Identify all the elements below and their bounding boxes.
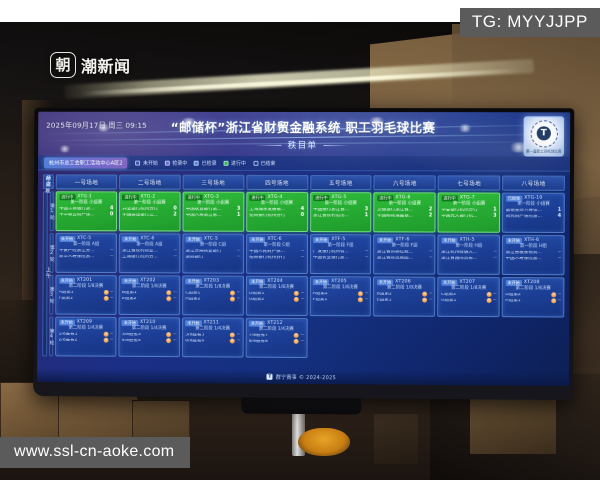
- match-card[interactable]: 进行中XTG-1第一阶段 小组赛中国工商银行浙...4中华联合财产保...0: [56, 191, 117, 231]
- overflow-dots[interactable]: ···: [493, 256, 496, 261]
- match-code: XTF-6: [395, 238, 409, 243]
- overflow-dots[interactable]: ···: [173, 297, 176, 302]
- match-team-row: 兴业银行杭州分行0: [122, 207, 176, 212]
- legend-item-1[interactable]: 检录中: [165, 159, 187, 166]
- subtitle-row: 秩目单: [38, 139, 570, 152]
- match-status-badge: 未开始: [122, 278, 138, 284]
- overflow-dots[interactable]: ···: [429, 298, 432, 303]
- venue-chip[interactable]: 杭州市总工会职工活动中心A区2: [44, 157, 128, 168]
- match-card-header: 未开始XT205: [313, 279, 368, 285]
- legend-label: 检录中: [172, 159, 187, 166]
- match-card-header: 进行中XTG-3: [186, 195, 241, 201]
- match-round-label: 第一阶段 小组赛: [186, 201, 241, 206]
- match-code: XTC-5: [77, 236, 91, 241]
- match-round-label: 第二阶段 1/8决赛: [441, 286, 496, 291]
- team-name: 富德生命人寿保...: [506, 208, 554, 213]
- match-card[interactable]: 进行中XTG-2第一阶段 小组赛兴业银行杭州分行0中国建设银行江...2: [119, 191, 181, 231]
- match-code: XT209: [77, 320, 93, 325]
- match-team-row: A组第2···: [313, 291, 368, 296]
- team-score: 4: [555, 214, 561, 219]
- legend-item-4[interactable]: 已结束: [253, 159, 276, 166]
- match-code: XTC-5: [204, 237, 218, 242]
- match-status-badge: 进行中: [249, 195, 265, 201]
- match-slot: 进行中XTG-2第一阶段 小组赛兴业银行杭州分行0中国建设银行江...2: [119, 191, 181, 231]
- match-card[interactable]: 进行中XTG-4第一阶段 小组赛上海浦东发展银...4招商银行杭州分行0: [246, 192, 308, 232]
- match-status-badge: 未开始: [122, 320, 138, 326]
- player-icon: [551, 299, 556, 304]
- match-slot: 未开始XT207第二阶段 1/8决赛C组第2···G组第1···: [437, 277, 500, 317]
- status-legend: 未开始检录中已检录进行中已结束: [136, 159, 276, 166]
- match-card-header: 未开始XTH-5: [441, 238, 496, 244]
- legend-swatch: [165, 160, 170, 165]
- player-icon: [294, 291, 299, 296]
- channel-logo: 朝 潮新闻: [50, 52, 131, 78]
- team-name: 中国邮政储蓄银...: [377, 214, 425, 219]
- legend-swatch: [253, 160, 258, 165]
- match-status-badge: 未开始: [441, 238, 457, 244]
- match-card[interactable]: 未开始XTC-6第一阶段 A组浙江省农村商业...···上海银行杭州分...··…: [119, 233, 181, 273]
- match-round-label: 第二阶段 1/8决赛: [122, 285, 176, 290]
- player-icon: [358, 298, 363, 303]
- team-name: 上海浦东发展银...: [249, 207, 296, 212]
- match-status-badge: 未开始: [505, 280, 521, 286]
- match-team-row: C组第2···: [441, 292, 496, 297]
- match-team-row: 7/8胜者7···: [249, 333, 304, 338]
- team-name: 上海银行杭州分...: [122, 255, 172, 260]
- match-team-row: H组第2···: [185, 297, 240, 302]
- team-name: 8/8胜者8: [249, 339, 293, 344]
- team-name: 7/8胜者7: [249, 333, 293, 338]
- overflow-dots[interactable]: ···: [173, 255, 176, 260]
- team-name: H组第1: [505, 299, 549, 304]
- screen-light-reflection: [179, 118, 199, 127]
- match-round-label: 第一阶段 小组赛: [122, 201, 176, 206]
- player-icon: [486, 298, 491, 303]
- legend-item-0[interactable]: 未开始: [136, 159, 158, 166]
- match-card-header: 进行中XTG-2: [122, 194, 176, 200]
- overflow-dots[interactable]: ···: [493, 298, 496, 303]
- team-name: 浙江省供销社联...: [377, 250, 427, 255]
- match-card-header: 进行中XTG-1: [59, 194, 113, 200]
- match-team-row: 浙江东南商业银行···: [186, 249, 241, 254]
- team-name: 中国工商银行浙...: [59, 207, 106, 212]
- match-team-row: 招商银行杭州分行···: [249, 255, 304, 260]
- match-team-row: 中国邮政储蓄银...2: [377, 214, 432, 219]
- match-slot: 进行中XTG-3第一阶段 小组赛中国农业银行浙...3中国人寿浙江省...1: [182, 192, 244, 232]
- match-round-label: 第二阶段 1/8决赛: [377, 286, 432, 291]
- footer-logo-mark: T: [267, 374, 273, 380]
- team-name: C组第1: [185, 291, 228, 296]
- overflow-dots[interactable]: ···: [301, 297, 304, 302]
- team-score: 1: [234, 213, 240, 218]
- cardboard-box: [470, 392, 556, 454]
- schedule-row: 第4轮未开始XT209第二阶段 1/4决赛1/8胜者1···2/8胜者2···未…: [42, 316, 564, 359]
- subtitle: 秩目单: [288, 139, 317, 151]
- screen-light-reflection: [457, 124, 473, 132]
- court-header-5[interactable]: 五号场地: [310, 175, 372, 190]
- match-team-row: 中国光大银行杭...3: [441, 214, 496, 219]
- schedule-grid: 时间段 场次 一号场地二号场地三号场地四号场地五号场地六号场地七号场地八号场地 …: [40, 172, 567, 361]
- match-slot: 进行中XTG-7第一阶段 小组赛华夏银行杭州分行1中国光大银行杭...3: [438, 192, 501, 232]
- subtitle-dash-left: [256, 144, 282, 145]
- overflow-dots[interactable]: ···: [557, 299, 560, 304]
- team-name: 浙商银行: [186, 255, 236, 260]
- match-card[interactable]: 未开始XT210第二阶段 1/4决赛3/8胜者3···4/8胜者4···: [118, 317, 180, 357]
- match-team-row: 中国人寿浙江省...1: [186, 213, 241, 218]
- schedule-row: 上午第1轮进行中XTG-1第一阶段 小组赛中国工商银行浙...4中华联合财产保.…: [43, 191, 565, 233]
- team-name: 兴业银行杭州分行: [122, 207, 169, 212]
- team-name: 6/8胜者6: [185, 339, 228, 344]
- player-icon: [551, 293, 556, 298]
- match-code: XT208: [524, 280, 540, 285]
- team-name: H组第2: [185, 297, 228, 302]
- team-name: 招商银行杭州分行: [249, 213, 296, 218]
- match-card-header: 进行中XTG-6: [377, 195, 432, 201]
- legend-label: 进行中: [231, 159, 246, 166]
- match-card-header: 未开始XT201: [59, 278, 113, 284]
- overflow-dots[interactable]: ···: [301, 255, 304, 260]
- match-team-row: 浙江省粮食物资...···: [506, 250, 561, 255]
- match-card[interactable]: 未开始XTC-5第一阶段 C组浙江东南商业银行···浙商银行···: [182, 234, 244, 274]
- match-team-row: 交通银行浙江省...2: [377, 208, 432, 213]
- player-icon: [103, 290, 108, 295]
- legend-item-3[interactable]: 进行中: [224, 159, 246, 166]
- overflow-dots[interactable]: ···: [110, 254, 113, 259]
- match-code: XTF-5: [331, 237, 345, 242]
- grid-corner-header: 时间段 场次: [43, 174, 54, 189]
- match-card[interactable]: 未开始XT211第二阶段 1/4决赛5/8胜者5···6/8胜者6···: [182, 317, 244, 357]
- match-card-header: 进行中XTG-7: [441, 195, 496, 201]
- tv-screen: 2025年09月17日 周三 09:15 “邮储杯”浙江省财贸金融系统 职工羽毛…: [37, 112, 570, 386]
- player-icon: [230, 297, 235, 302]
- match-slot: [502, 319, 565, 360]
- team-score: 3: [491, 214, 497, 219]
- match-code: XT210: [140, 320, 156, 325]
- match-slot: [373, 318, 435, 358]
- match-card[interactable]: 未开始XTF-5第一阶段 F组广发银行杭州有...···中国农业银行浙...··…: [309, 234, 371, 274]
- court-header-7[interactable]: 七号场地: [438, 175, 500, 190]
- empty-slot: [437, 319, 500, 360]
- schedule-grid-head: 时间段 场次 一号场地二号场地三号场地四号场地五号场地六号场地七号场地八号场地: [43, 174, 565, 190]
- match-card[interactable]: 未开始XTH-6第一阶段 H组浙江省粮食物资...···中国人寿保险浙...··…: [502, 235, 565, 275]
- match-card-header: 未开始XTC-6: [249, 237, 304, 243]
- legend-label: 已结束: [260, 159, 275, 166]
- match-code: XT211: [203, 321, 219, 326]
- player-icon: [230, 339, 235, 344]
- court-header-3[interactable]: 三号场地: [182, 175, 244, 190]
- team-name: 浙江杭州联通大...: [441, 250, 491, 255]
- court-header-6[interactable]: 六号场地: [374, 175, 436, 190]
- overflow-dots[interactable]: ···: [173, 338, 176, 343]
- overflow-dots[interactable]: ···: [300, 339, 303, 344]
- match-team-row: 中国人民财产保...···: [249, 249, 304, 254]
- match-status-badge: 进行中: [186, 195, 202, 201]
- court-header-2[interactable]: 二号场地: [119, 175, 180, 190]
- match-card[interactable]: 未开始XTC-5第一阶段 A组平安产险浙江分...···新华人寿保险浙...··…: [55, 233, 116, 273]
- match-slot: 未开始XT205第二阶段 1/8决赛A组第2···F组第1···: [309, 276, 371, 316]
- match-card-header: 进行中XTG-5: [313, 195, 368, 201]
- team-name: 中华联合财产保...: [59, 213, 106, 218]
- match-slot: 未开始XTC-5第一阶段 C组浙江东南商业银行···浙商银行···: [182, 234, 244, 274]
- match-round-label: 第二阶段 1/8决赛: [59, 284, 113, 289]
- match-code: XTG-4: [268, 195, 283, 200]
- schedule-row: 第2轮未开始XTC-5第一阶段 A组平安产险浙江分...···新华人寿保险浙..…: [43, 233, 565, 275]
- team-name: A组第2: [313, 292, 357, 297]
- screen-light-reflection: [58, 146, 72, 153]
- match-status-badge: 进行中: [122, 194, 138, 200]
- match-card[interactable]: 未开始XTF-6第一阶段 F组浙江省供销社联...···浙江省财贸集团...··…: [373, 234, 435, 274]
- match-card-header: 未开始XT209: [59, 320, 113, 326]
- tournament-schedule-app: 2025年09月17日 周三 09:15 “邮储杯”浙江省财贸金融系统 职工羽毛…: [37, 112, 570, 386]
- match-card-header: 未开始XT212: [249, 321, 304, 327]
- match-card[interactable]: 未开始XT207第二阶段 1/8决赛C组第2···G组第1···: [437, 277, 500, 317]
- team-name: 阳光财产保险浙...: [506, 214, 554, 219]
- match-status-badge: 未开始: [377, 237, 393, 243]
- player-icon: [294, 339, 299, 344]
- court-header-8[interactable]: 八号场地: [502, 176, 565, 191]
- channel-logo-mark: 朝: [50, 52, 76, 78]
- match-team-row: 浙江省财贸集团...···: [377, 256, 432, 261]
- overflow-dots[interactable]: ···: [110, 338, 113, 343]
- match-card[interactable]: 进行中XTG-7第一阶段 小组赛华夏银行杭州分行1中国光大银行杭...3: [438, 192, 501, 232]
- match-card-header: 未开始XTF-5: [313, 237, 368, 243]
- legend-swatch: [224, 160, 229, 165]
- match-team-row: 新华人寿保险浙...···: [59, 254, 113, 259]
- room-photo: 朝 潮新闻 2025年09月17日 周三 09:15 “邮储杯”浙江省财贸金融系…: [0, 0, 600, 480]
- screen-light-reflection: [273, 122, 291, 130]
- player-icon: [167, 291, 172, 296]
- match-round-label: 第一阶段 C组: [186, 243, 241, 248]
- match-slot: 未开始XT204第二阶段 1/8决赛D组第1···G组第2···: [245, 276, 307, 316]
- overflow-dots[interactable]: ···: [364, 298, 367, 303]
- match-round-label: 第一阶段 小组赛: [313, 202, 368, 207]
- match-card-header: 未开始XT211: [185, 320, 240, 326]
- match-round-label: 第二阶段 1/4决赛: [249, 327, 304, 332]
- tv-stand: [241, 398, 361, 415]
- match-code: XTH-6: [524, 238, 539, 243]
- match-status-badge: 已结束: [506, 196, 522, 202]
- match-code: XTH-5: [460, 238, 475, 243]
- match-slot: 未开始XTF-6第一阶段 F组浙江省供销社联...···浙江省财贸集团...··…: [373, 234, 435, 274]
- match-status-badge: 未开始: [313, 237, 329, 243]
- match-round-label: 第二阶段 1/8决赛: [249, 285, 304, 290]
- match-card[interactable]: 未开始XT204第二阶段 1/8决赛D组第1···G组第2···: [245, 276, 307, 316]
- legend-swatch: [136, 160, 141, 165]
- match-code: XTC-6: [267, 237, 281, 242]
- match-card-header: 未开始XT202: [122, 278, 176, 284]
- team-name: 3/8胜者3: [122, 332, 165, 337]
- legend-label: 已检录: [202, 159, 217, 166]
- player-icon: [486, 292, 491, 297]
- filter-toolbar[interactable]: 杭州市总工会职工活动中心A区2 未开始检录中已检录进行中已结束: [38, 155, 570, 171]
- team-score: 1: [362, 214, 368, 219]
- match-slot: 未开始XTC-6第一阶段 C组中国人民财产保...···招商银行杭州分行···: [246, 234, 308, 274]
- match-status-badge: 未开始: [249, 237, 265, 243]
- match-round-label: 第一阶段 小组赛: [441, 202, 496, 207]
- match-team-row: F组第2···: [59, 296, 113, 301]
- match-card[interactable]: 进行中XTG-5第一阶段 小组赛中国银行浙江省...3浙江省农村信用...1: [310, 192, 372, 232]
- match-card-header: 未开始XT204: [249, 279, 304, 285]
- schedule-grid-body: 上午第1轮进行中XTG-1第一阶段 小组赛中国工商银行浙...4中华联合财产保.…: [42, 191, 565, 360]
- match-team-row: 4/8胜者4···: [122, 338, 176, 343]
- match-slot: 已结束XTG-10第一阶段 小组赛富德生命人寿保...1阳光财产保险浙...4: [502, 193, 565, 233]
- team-name: B组第2: [377, 292, 421, 297]
- match-code: XTG-7: [460, 196, 475, 201]
- tg-watermark: TG: MYYJJPP: [460, 8, 600, 37]
- team-name: 浙江省粮食物资...: [506, 250, 557, 255]
- match-team-row: 中国银行浙江省...3: [313, 207, 368, 212]
- overflow-dots[interactable]: ···: [558, 256, 561, 261]
- court-header-4[interactable]: 四号场地: [246, 175, 308, 190]
- team-name: 新华人寿保险浙...: [59, 254, 109, 259]
- app-footer: T 群宁赛事 © 2024-2025: [37, 368, 569, 386]
- match-team-row: G组第2···: [249, 297, 304, 302]
- team-name: 中国人寿浙江省...: [186, 213, 233, 218]
- match-status-badge: 未开始: [377, 279, 393, 285]
- match-card-header: 未开始XTC-6: [122, 236, 176, 242]
- match-slot: 未开始XT212第二阶段 1/4决赛7/8胜者7···8/8胜者8···: [245, 318, 307, 358]
- match-card[interactable]: 已结束XTG-10第一阶段 小组赛富德生命人寿保...1阳光财产保险浙...4: [502, 193, 565, 233]
- match-card[interactable]: 未开始XT209第二阶段 1/4决赛1/8胜者1···2/8胜者2···: [55, 317, 116, 357]
- event-badge: T 第一届职工羽毛球比赛: [524, 116, 565, 156]
- match-card[interactable]: 未开始XT206第二阶段 1/8决赛B组第2···E组第1···: [373, 276, 435, 316]
- player-icon: [230, 291, 235, 296]
- match-slot: [437, 319, 500, 360]
- footer-copyright: 群宁赛事 © 2024-2025: [276, 373, 336, 380]
- match-card[interactable]: 进行中XTG-6第一阶段 小组赛交通银行浙江省...2中国邮政储蓄银...2: [374, 192, 436, 232]
- match-team-row: A组第1···: [59, 290, 113, 295]
- schedule-row: 第3轮未开始XT201第二阶段 1/8决赛A组第1···F组第2···未开始XT…: [42, 275, 564, 318]
- match-card[interactable]: 未开始XTC-6第一阶段 C组中国人民财产保...···招商银行杭州分行···: [246, 234, 308, 274]
- match-card-header: 已结束XTG-10: [506, 196, 561, 202]
- match-card[interactable]: 未开始XT208第二阶段 1/8决赛D组第2···H组第1···: [502, 277, 565, 318]
- match-team-row: 上海浦东发展银...4: [249, 207, 304, 212]
- player-icon: [358, 292, 363, 297]
- channel-logo-name: 潮新闻: [81, 53, 131, 77]
- team-name: F组第1: [313, 298, 357, 303]
- match-team-row: G组第1···: [441, 298, 496, 303]
- match-team-row: 阳光财产保险浙...4: [506, 214, 561, 219]
- legend-item-2[interactable]: 已检录: [194, 159, 216, 166]
- round-label: 第3轮: [49, 275, 54, 315]
- match-team-row: 6/8胜者6···: [185, 339, 240, 344]
- screen-light-reflection: [367, 117, 387, 126]
- team-name: 华夏银行杭州分行: [441, 208, 489, 213]
- team-name: 中国建设银行江...: [122, 213, 169, 218]
- match-status-badge: 未开始: [185, 320, 201, 326]
- overflow-dots[interactable]: ···: [237, 339, 240, 344]
- match-team-row: 5/8胜者5···: [185, 333, 240, 338]
- overflow-dots[interactable]: ···: [429, 256, 432, 261]
- team-score: 0: [107, 213, 113, 218]
- header-title-block: “邮储杯”浙江省财贸金融系统 职工羽毛球比赛 秩目单: [38, 118, 570, 152]
- match-card-header: 未开始XTH-6: [506, 238, 561, 244]
- match-card-header: 未开始XTC-5: [186, 237, 241, 243]
- team-name: 浙江省财贸集团...: [377, 256, 427, 261]
- match-slot: 未开始XT210第二阶段 1/4决赛3/8胜者3···4/8胜者4···: [118, 317, 180, 357]
- match-slot: 未开始XT203第二阶段 1/8决赛C组第1···H组第2···: [182, 275, 244, 315]
- match-team-row: 中华联合财产保...0: [59, 212, 113, 217]
- overflow-dots[interactable]: ···: [110, 296, 113, 301]
- court-header-1[interactable]: 一号场地: [56, 174, 117, 189]
- overflow-dots[interactable]: ···: [237, 255, 240, 260]
- match-team-row: 3/8胜者3···: [122, 332, 176, 337]
- session-label-0: 上午: [42, 191, 47, 356]
- team-name: 中国人寿保险浙...: [506, 256, 557, 261]
- match-team-row: 中国人寿保险浙...···: [506, 256, 561, 261]
- match-slot: 未开始XT202第二阶段 1/8决赛B组第1···E组第2···: [118, 275, 180, 315]
- player-icon: [422, 298, 427, 303]
- match-card[interactable]: 未开始XT203第二阶段 1/8决赛C组第1···H组第2···: [182, 275, 244, 315]
- television: 2025年09月17日 周三 09:15 “邮储杯”浙江省财贸金融系统 职工羽毛…: [33, 108, 574, 400]
- match-status-badge: 进行中: [441, 195, 457, 201]
- match-status-badge: 未开始: [59, 278, 75, 284]
- player-icon: [103, 296, 108, 301]
- match-team-row: 广发银行杭州有...···: [313, 249, 368, 254]
- match-status-badge: 未开始: [313, 279, 329, 285]
- team-name: B组第1: [122, 291, 165, 296]
- site-watermark: www.ssl-cn-aoke.com: [0, 437, 190, 468]
- match-team-row: 浙江杭州联通大...···: [441, 250, 496, 255]
- match-slot: 进行中XTG-1第一阶段 小组赛中国工商银行浙...4中华联合财产保...0: [56, 191, 117, 231]
- match-slot: 进行中XTG-6第一阶段 小组赛交通银行浙江省...2中国邮政储蓄银...2: [374, 192, 436, 232]
- match-card[interactable]: 未开始XTH-5第一阶段 H组浙江杭州联通大...···浙江省国际贸易...··…: [438, 235, 501, 275]
- team-name: 广发银行杭州有...: [313, 250, 363, 255]
- player-icon: [167, 338, 172, 343]
- match-code: XT201: [77, 278, 93, 283]
- match-card-header: 未开始XT206: [377, 279, 432, 285]
- match-team-row: E组第1···: [377, 298, 432, 303]
- match-status-badge: 进行中: [59, 194, 75, 200]
- corner-header-session: 场次: [45, 175, 53, 187]
- player-icon: [230, 333, 235, 338]
- schedule-grid-wrapper: 时间段 场次 一号场地二号场地三号场地四号场地五号场地六号场地七号场地八号场地 …: [37, 170, 570, 361]
- player-icon: [167, 332, 172, 337]
- match-status-badge: 未开始: [249, 321, 265, 327]
- match-team-row: 华夏银行杭州分行1: [441, 208, 496, 213]
- match-code: XTG-1: [77, 195, 92, 200]
- overflow-dots[interactable]: ···: [365, 256, 368, 261]
- match-round-label: 第一阶段 F组: [313, 244, 368, 249]
- round-label: 第1轮: [49, 191, 54, 231]
- match-slot: 未开始XT206第二阶段 1/8决赛B组第2···E组第1···: [373, 276, 435, 316]
- match-card-header: 未开始XTC-5: [59, 236, 113, 242]
- match-code: XT207: [459, 280, 475, 285]
- match-team-row: 中国工商银行浙...4: [59, 207, 113, 212]
- match-team-row: B组第2···: [377, 292, 432, 297]
- match-team-row: B组第1···: [122, 290, 176, 295]
- match-card[interactable]: 进行中XTG-3第一阶段 小组赛中国农业银行浙...3中国人寿浙江省...1: [182, 192, 244, 232]
- match-team-row: 浙江省农村商业...···: [122, 249, 176, 254]
- team-name: E组第1: [377, 298, 421, 303]
- app-header: 2025年09月17日 周三 09:15 “邮储杯”浙江省财贸金融系统 职工羽毛…: [38, 112, 570, 157]
- match-team-row: 8/8胜者8···: [249, 339, 304, 344]
- overflow-dots[interactable]: ···: [237, 297, 240, 302]
- match-card[interactable]: 未开始XT201第二阶段 1/8决赛A组第1···F组第2···: [55, 275, 116, 315]
- team-name: 浙江省农村商业...: [122, 249, 172, 254]
- screen-light-reflection: [96, 124, 112, 132]
- team-name: 招商银行杭州分行: [249, 255, 299, 260]
- team-name: 浙江省国际贸易...: [441, 256, 491, 261]
- match-team-row: C组第1···: [185, 291, 240, 296]
- match-card[interactable]: 未开始XT202第二阶段 1/8决赛B组第1···E组第2···: [118, 275, 180, 315]
- match-card[interactable]: 未开始XT205第二阶段 1/8决赛A组第2···F组第1···: [309, 276, 371, 316]
- legend-label: 未开始: [143, 159, 158, 166]
- match-card[interactable]: 未开始XT212第二阶段 1/4决赛7/8胜者7···8/8胜者8···: [245, 318, 307, 358]
- match-status-badge: 未开始: [441, 280, 457, 286]
- match-round-label: 第二阶段 1/8决赛: [505, 287, 560, 292]
- team-name: 中国光大银行杭...: [441, 214, 489, 219]
